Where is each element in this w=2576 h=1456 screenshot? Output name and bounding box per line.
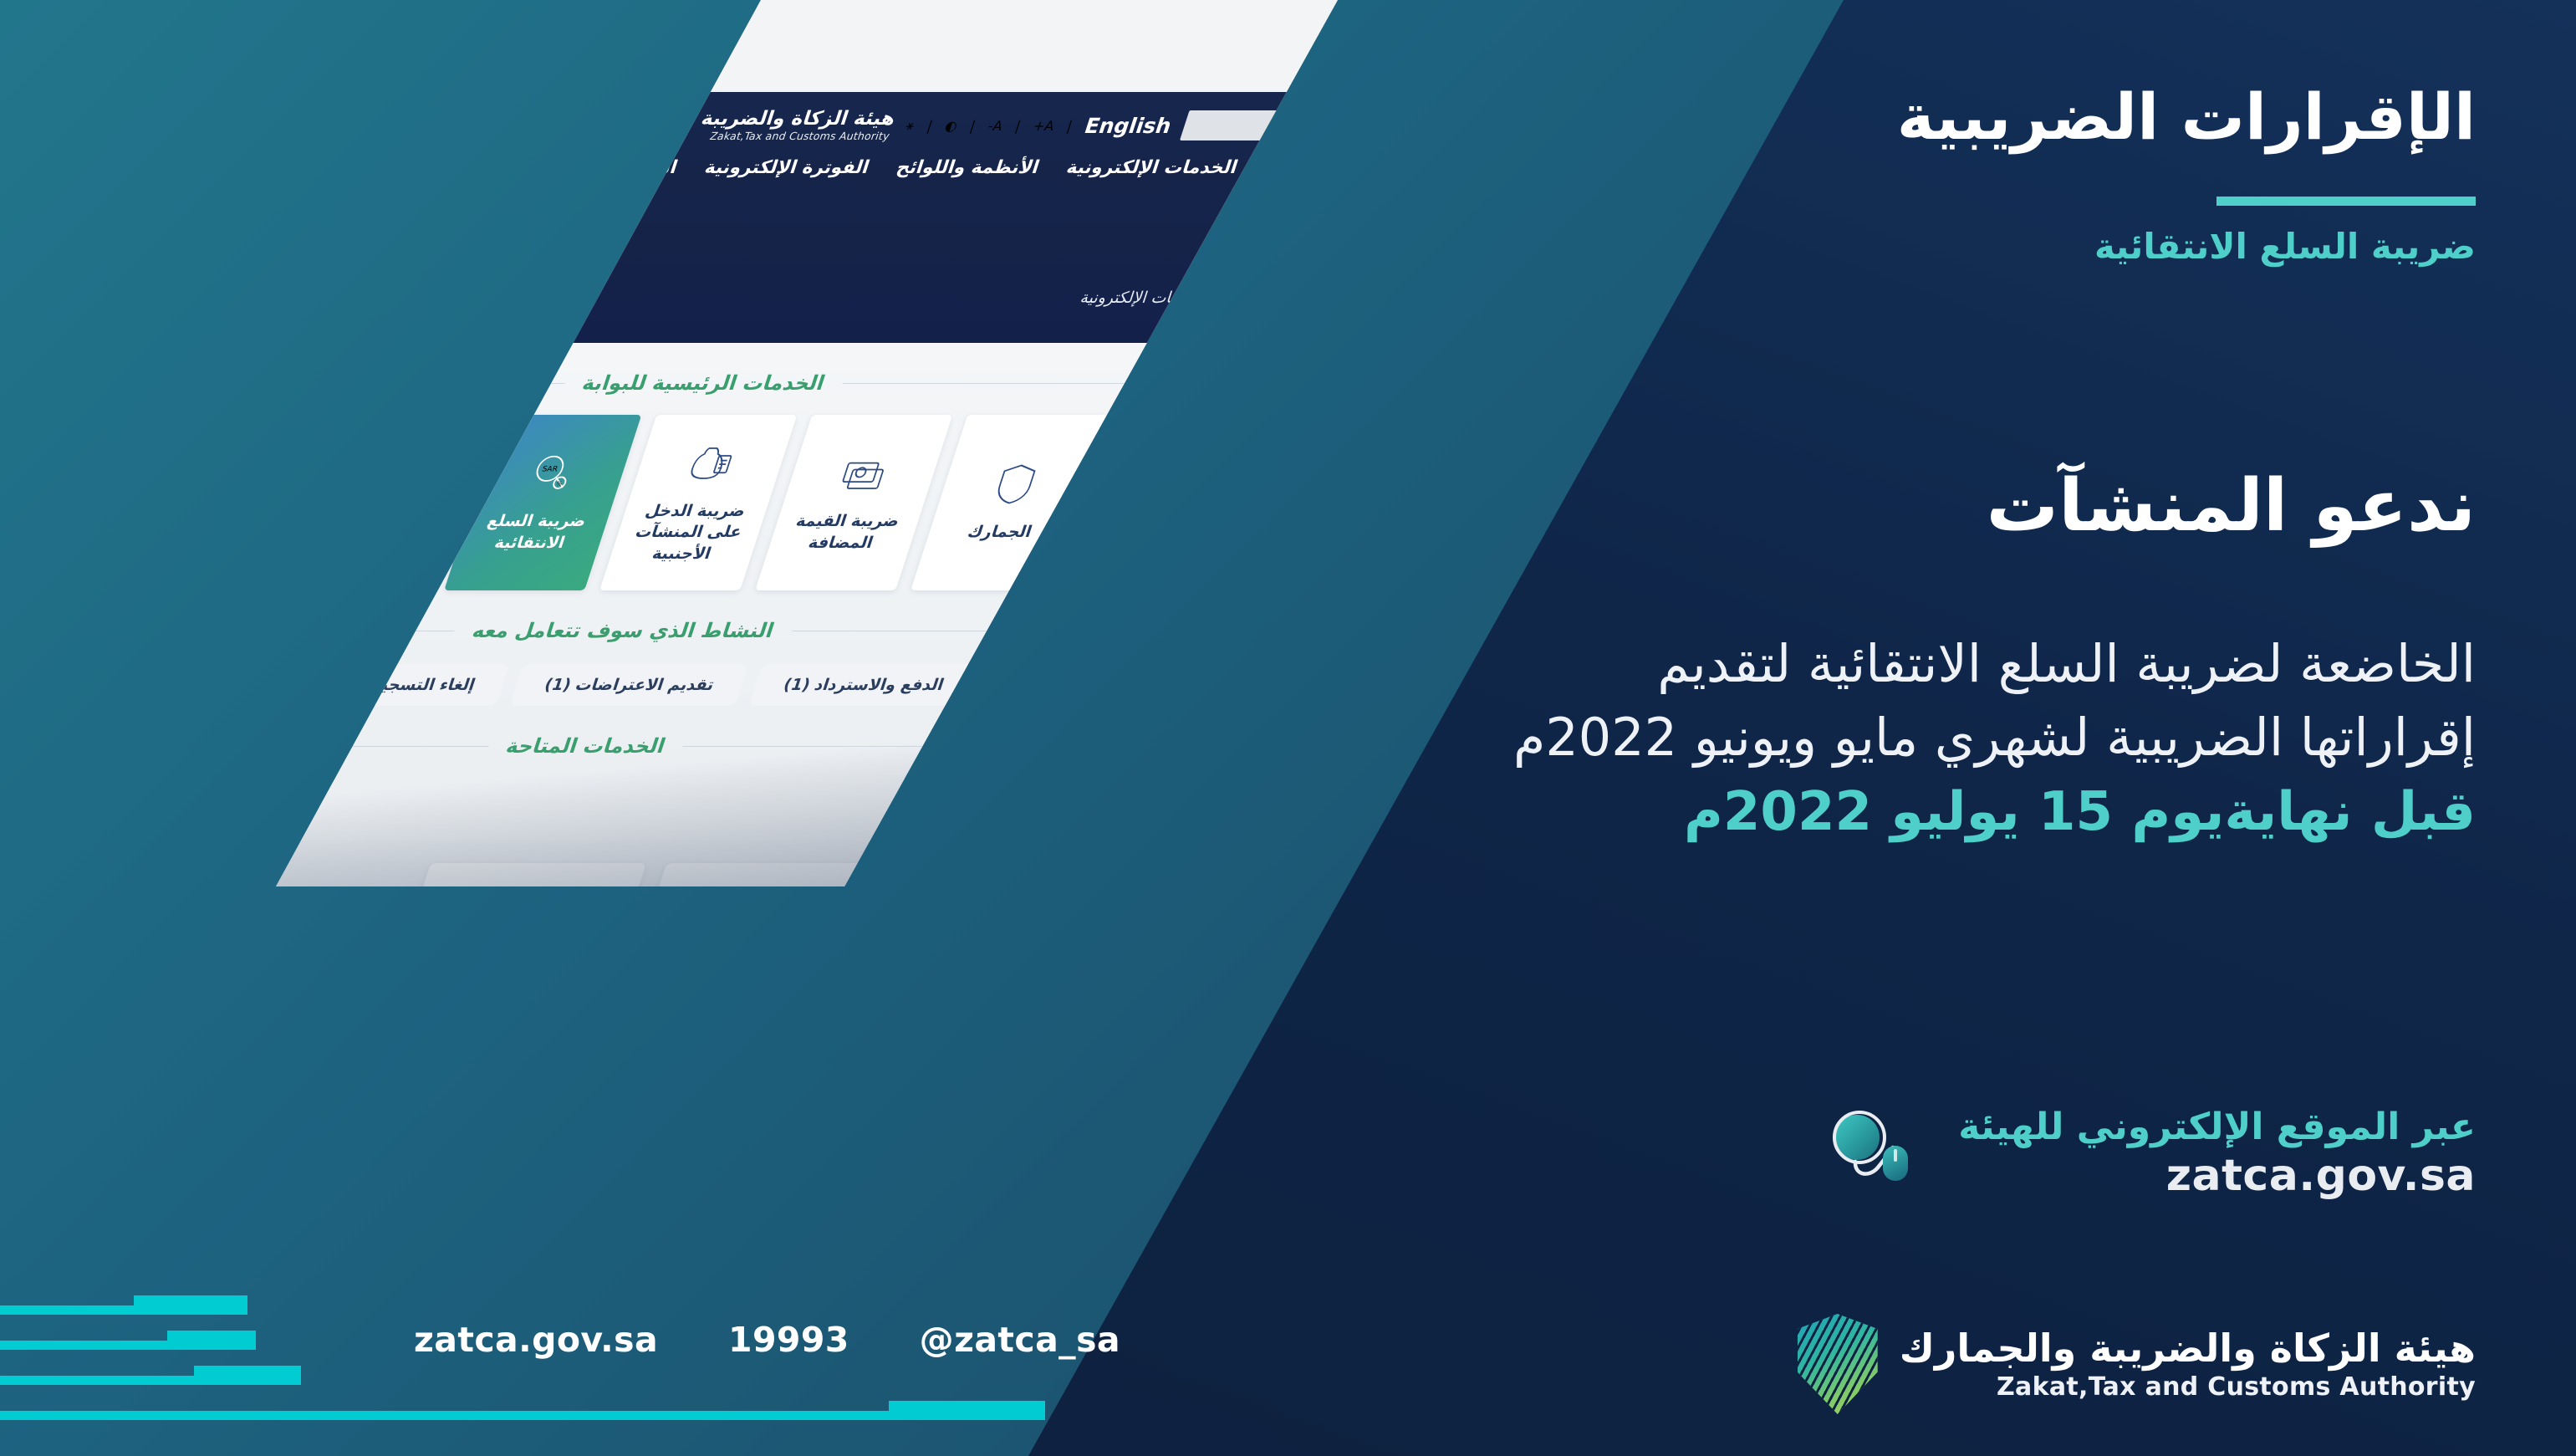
- body-line-2: إقراراتها الضريبية لشهري مايو ويونيو 202…: [1004, 701, 2476, 774]
- accessibility-icon[interactable]: ⚹: [904, 117, 917, 134]
- website-label: عبر الموقع الإلكتروني للهيئة: [1958, 1106, 2476, 1150]
- contact-phone[interactable]: 19993: [728, 1320, 849, 1360]
- font-increase-button[interactable]: A+: [1031, 118, 1057, 134]
- kicker-subtitle: ضريبة السلع الانتقائية: [2094, 226, 2476, 267]
- divider: |: [1013, 118, 1023, 134]
- kicker-title: الإقرارات الضريبية: [1897, 79, 2476, 154]
- contrast-icon[interactable]: ◐: [943, 118, 960, 134]
- title-rule: [2216, 197, 2476, 206]
- nav-item-regulations[interactable]: الأنظمة واللوائح: [894, 157, 1042, 178]
- body-line-1: الخاضعة لضريبة السلع الانتقائية لتقديم: [1004, 627, 2476, 701]
- divider: |: [925, 118, 935, 134]
- font-decrease-button[interactable]: A-: [986, 118, 1005, 134]
- zatca-authority-logo: هيئة الزكاة والضريبة والجمارك Zakat,Tax …: [1798, 1314, 2476, 1414]
- computer-mouse-icon: [1821, 1104, 1930, 1204]
- message-column: الإقرارات الضريبية ضريبة السلع الانتقائي…: [1656, 0, 2576, 1456]
- zatca-shield-icon: [1798, 1314, 1878, 1414]
- divider: |: [968, 118, 978, 134]
- contact-website[interactable]: zatca.gov.sa: [414, 1320, 658, 1360]
- deadline-line: قبل نهايةيوم 15 يوليو 2022م: [1004, 774, 2476, 851]
- headline: ندعو المنشآت: [1987, 464, 2476, 548]
- language-toggle[interactable]: English: [1081, 114, 1175, 138]
- contact-bar: zatca.gov.sa 19993 @zatca_sa: [414, 1320, 1120, 1360]
- shield-icon: [984, 462, 1045, 510]
- svg-text:SAR: SAR: [541, 465, 559, 474]
- banner-canvas: بحث ... English | A+ | A- | ◐ | ⚹ هيئة ا…: [0, 0, 2576, 1456]
- nav-item-eservices[interactable]: الخدمات الإلكترونية: [1064, 157, 1240, 178]
- money-bag-doc-icon: [681, 441, 742, 489]
- body-copy: الخاضعة لضريبة السلع الانتقائية لتقديم إ…: [1004, 627, 2476, 851]
- authority-name-arabic: هيئة الزكاة والضريبة والجمارك: [1900, 1326, 2476, 1372]
- banknotes-icon: [832, 451, 893, 499]
- tab-payment-refund[interactable]: الدفع والاسترداد (1): [749, 664, 979, 706]
- website-url[interactable]: zatca.gov.sa: [1958, 1150, 2476, 1202]
- sar-tag-icon: SAR%: [521, 451, 582, 499]
- authority-name-english: Zakat,Tax and Customs Authority: [1900, 1372, 2476, 1402]
- divider: |: [1065, 118, 1075, 134]
- contact-social[interactable]: @zatca_sa: [920, 1320, 1120, 1360]
- website-callout[interactable]: عبر الموقع الإلكتروني للهيئة zatca.gov.s…: [1821, 1104, 2476, 1204]
- tab-objections[interactable]: تقديم الاعتراضات (1): [510, 664, 749, 706]
- nav-item-einvoicing[interactable]: الفوترة الإلكترونية: [702, 157, 873, 178]
